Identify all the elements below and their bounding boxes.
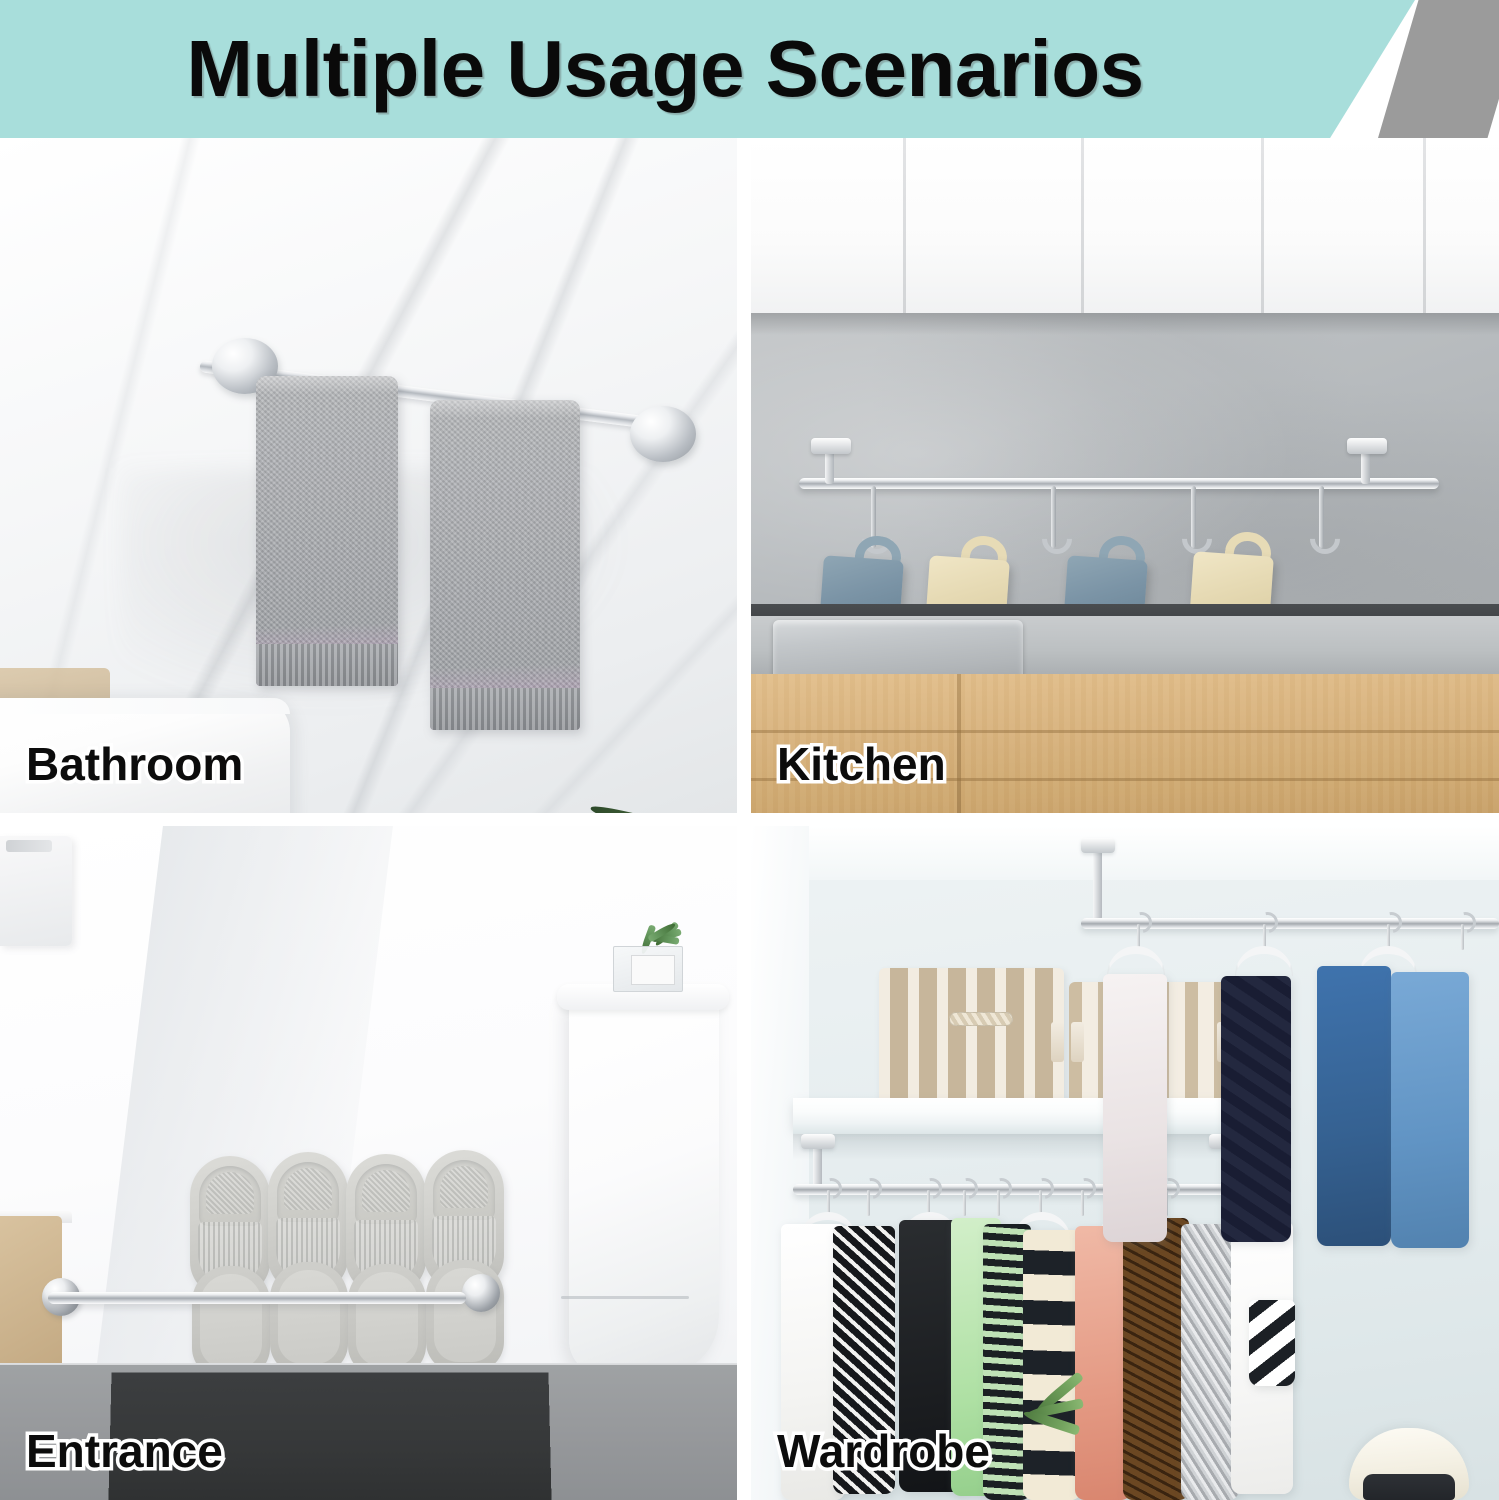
kitchen-hanging-rail [799, 478, 1439, 489]
panel-caption-entrance: Entrance [26, 1424, 223, 1478]
slipper-texture [206, 1172, 254, 1214]
hanger [963, 1190, 966, 1216]
upper-cabinets [751, 138, 1499, 313]
hanger [997, 1190, 1000, 1216]
slipper-texture [284, 1168, 332, 1210]
base-cabinet-seam [957, 674, 961, 813]
slipper-rack-mount-right [462, 1274, 500, 1312]
hand-towel-left [256, 376, 398, 686]
slipper-rack-bar [48, 1292, 466, 1304]
panel-caption-wardrobe: Wardrobe [777, 1424, 990, 1478]
cabinet-seam [1261, 138, 1264, 313]
panel-kitchen[interactable]: Kitchen [751, 138, 1499, 813]
upper-rod-flange [1081, 838, 1115, 853]
hanger [867, 1190, 870, 1216]
garment-denim-shirt [1317, 966, 1391, 1246]
basin-rim [0, 698, 290, 714]
towel-hem [430, 688, 580, 730]
panel-bathroom[interactable]: Bathroom [0, 138, 737, 813]
slipper-sole-inner [278, 1270, 340, 1364]
slipper-sole-2 [270, 1262, 348, 1374]
garment-blush-tank [1103, 974, 1167, 1242]
cabinet-shadow [751, 313, 1499, 335]
slipper-sole-1 [192, 1266, 270, 1378]
basket-tab [1051, 1022, 1064, 1062]
wall-box-accent [6, 840, 52, 852]
toilet-seam [561, 1296, 689, 1299]
wardrobe-ceiling [751, 826, 1499, 880]
upper-rod-post [1093, 846, 1102, 920]
panel-caption-bathroom: Bathroom [26, 737, 243, 791]
garment-tribal-print [1123, 1218, 1189, 1500]
succulent-plant [607, 906, 693, 992]
garment-light-denim [1391, 972, 1469, 1248]
pot-label [631, 955, 675, 985]
shelf-front-edge [793, 1122, 1285, 1134]
towel-fold [256, 376, 398, 394]
infographic-page: Multiple Usage Scenarios [0, 0, 1499, 1500]
panel-entrance[interactable]: Entrance [0, 826, 737, 1500]
palm-plant [495, 778, 737, 813]
wall-box [0, 836, 72, 946]
palm-frond [589, 801, 737, 813]
toilet [569, 996, 719, 1376]
cabinet-seam [1423, 138, 1426, 313]
s-hook [1051, 486, 1056, 548]
hanger [1081, 1190, 1084, 1216]
slipper-texture [440, 1166, 488, 1208]
basket-tab [1071, 1022, 1084, 1062]
slipper-sole-inner [200, 1274, 262, 1368]
panel-wardrobe[interactable]: Wardrobe [751, 826, 1499, 1500]
s-hook [1191, 486, 1196, 548]
cabinet-seam [903, 138, 906, 313]
towel-hem [256, 644, 398, 686]
panel-caption-kitchen: Kitchen [777, 737, 946, 791]
scenario-grid: Bathroom [0, 138, 1499, 1500]
hat-band [1363, 1474, 1455, 1500]
towel-fold [430, 400, 580, 418]
lower-rod-flange-left [801, 1134, 835, 1149]
hanger [1461, 924, 1464, 950]
slipper-sole-inner [356, 1272, 418, 1366]
garment-navy-print [1221, 976, 1291, 1242]
s-hook [1319, 486, 1324, 548]
header-banner: Multiple Usage Scenarios [0, 0, 1499, 138]
page-title: Multiple Usage Scenarios [0, 0, 1330, 138]
garment-stripe-accent [1249, 1300, 1295, 1386]
rail-mount-right [1347, 438, 1387, 454]
storage-basket-1 [879, 968, 1064, 1102]
slipper-texture [362, 1170, 410, 1212]
rail-mount-left [811, 438, 851, 454]
floor-plant [1013, 1360, 1083, 1480]
towel-bar-mount-right [630, 406, 696, 462]
cabinet-seam [1081, 138, 1084, 313]
slipper-sole-3 [348, 1264, 426, 1376]
base-cabinet-line [751, 730, 1499, 733]
hand-towel-right [430, 400, 580, 730]
basket-rope-handle [949, 1012, 1013, 1026]
